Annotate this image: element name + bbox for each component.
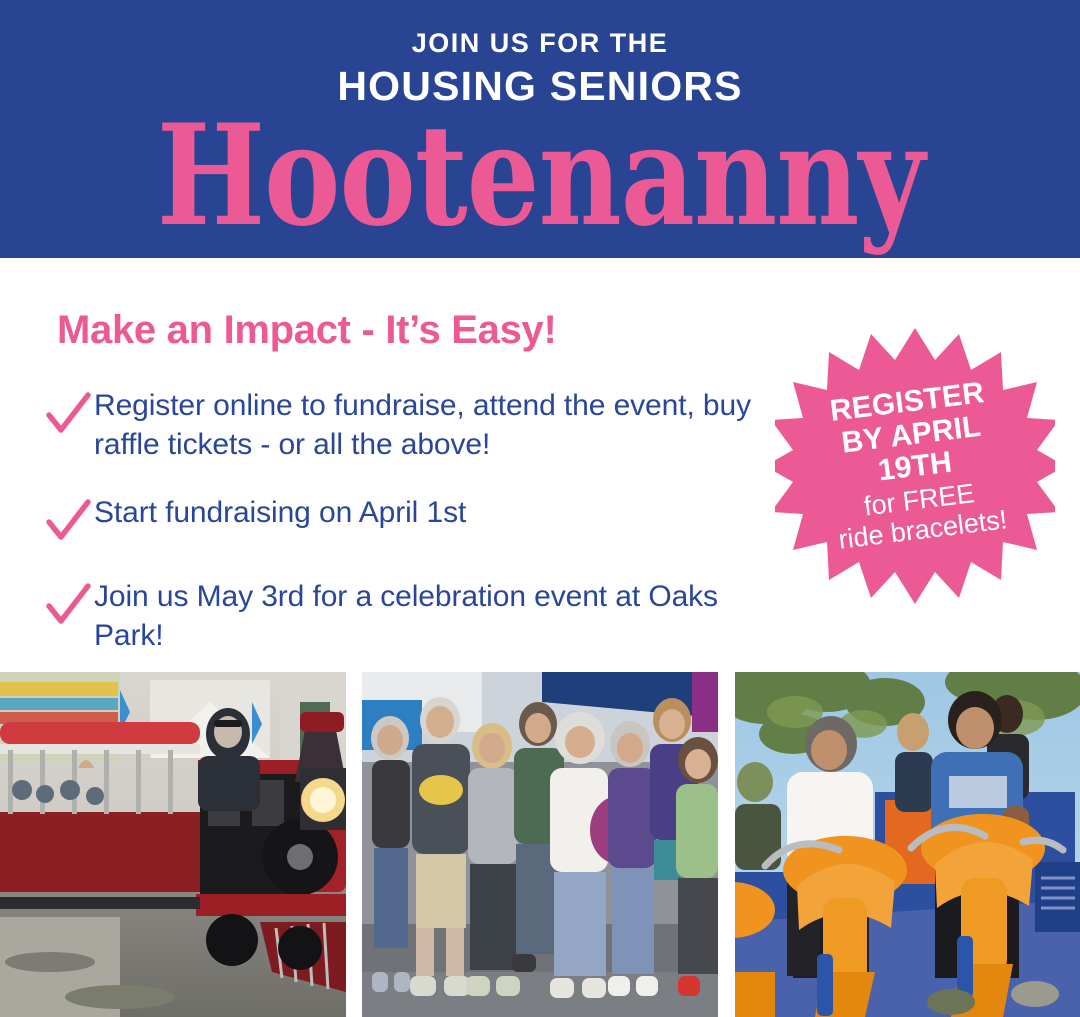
list-item-label: Start fundraising on April 1st xyxy=(94,490,466,532)
checkmark-icon xyxy=(42,580,94,632)
checkmark-icon xyxy=(42,389,94,441)
photo-miniature-train xyxy=(0,672,346,1017)
checkmark-icon xyxy=(42,496,94,548)
list-item: Register online to fundraise, attend the… xyxy=(42,383,772,464)
header-kicker: JOIN US FOR THE xyxy=(412,30,669,57)
list-item-label: Join us May 3rd for a celebration event … xyxy=(94,574,772,655)
list-item: Join us May 3rd for a celebration event … xyxy=(42,574,772,655)
event-title: Hootenanny xyxy=(156,106,923,245)
register-by-badge: REGISTER BY APRIL 19TH for FREE ride bra… xyxy=(775,326,1055,606)
photo-amusement-ride xyxy=(735,672,1080,1017)
list-item-label: Register online to fundraise, attend the… xyxy=(94,383,772,464)
benefits-list: Register online to fundraise, attend the… xyxy=(42,383,772,655)
photo-strip xyxy=(0,672,1080,1017)
page-headline: Make an Impact - It’s Easy! xyxy=(57,308,557,353)
starburst-shape xyxy=(775,326,1055,606)
header-band: JOIN US FOR THE HOUSING SENIORS Hootenan… xyxy=(0,0,1080,258)
list-item: Start fundraising on April 1st xyxy=(42,490,772,548)
photo-group-portrait xyxy=(362,672,718,1017)
main-content: Make an Impact - It’s Easy! Register onl… xyxy=(0,258,1080,672)
